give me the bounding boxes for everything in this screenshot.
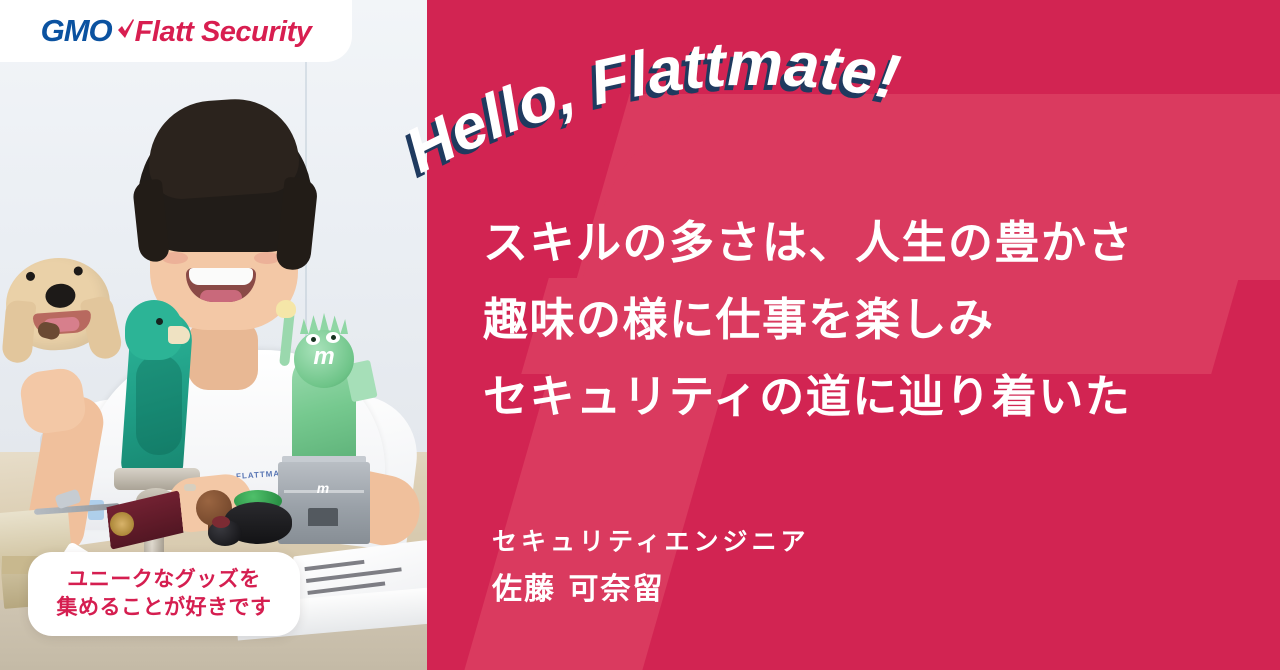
copy-line-3: セキュリティの道に辿り着いた xyxy=(483,358,1134,435)
caption-line-1: ユニークなグッズを xyxy=(42,565,286,593)
parrot-figurine-eye xyxy=(156,318,163,325)
mm-statue-logo-letter: m xyxy=(300,340,348,374)
mm-statue-pedestal xyxy=(278,462,370,544)
brand-logo: GMO Flatt Security xyxy=(41,13,312,49)
copy-line-2: 趣味の様に仕事を楽しみ xyxy=(483,281,1134,358)
dog-eye-right xyxy=(73,266,83,276)
copy-line-1: スキルの多さは、人生の豊かさ xyxy=(483,204,1134,281)
byline-name: 佐藤 可奈留 xyxy=(492,573,810,608)
byline: セキュリティエンジニア 佐藤 可奈留 xyxy=(492,528,810,607)
photo-person-tongue xyxy=(200,290,242,302)
photo-person-neck xyxy=(188,320,258,390)
gmo-wordmark: GMO xyxy=(41,13,112,49)
desk-small-red-accent xyxy=(212,516,230,528)
brand-logo-card[interactable]: GMO Flatt Security xyxy=(0,0,352,62)
headline-copy: スキルの多さは、人生の豊かさ 趣味の様に仕事を楽しみ セキュリティの道に辿り着い… xyxy=(483,204,1134,435)
caption-line-2: 集めることが好きです xyxy=(42,593,286,621)
check-mark-icon xyxy=(118,21,134,41)
mm-statue-flame xyxy=(276,300,296,318)
byline-role: セキュリティエンジニア xyxy=(492,528,810,557)
photo-person-teeth xyxy=(189,268,253,285)
desk-gold-seal xyxy=(110,512,134,536)
mm-statue-pedestal-letter: m xyxy=(308,480,338,496)
hello-flattmate-banner: FLATTMATE xyxy=(0,0,1280,670)
caption-bubble: ユニークなグッズを 集めることが好きです xyxy=(28,552,300,636)
photo-person-ring xyxy=(184,484,196,491)
desk-paper-line xyxy=(304,560,364,571)
desk-paper-line xyxy=(306,567,402,583)
flatt-security-wordmark: Flatt Security xyxy=(135,16,312,49)
mm-statue-pedestal-door xyxy=(308,508,338,526)
parrot-figurine-beak xyxy=(168,326,190,344)
parrot-figurine-wing xyxy=(136,355,182,455)
headline-hello-flattmate: Hello, Flattmate! Hello, Flattmate! xyxy=(412,52,942,172)
dog-nose xyxy=(45,283,77,309)
dog-eye-left xyxy=(26,272,36,282)
